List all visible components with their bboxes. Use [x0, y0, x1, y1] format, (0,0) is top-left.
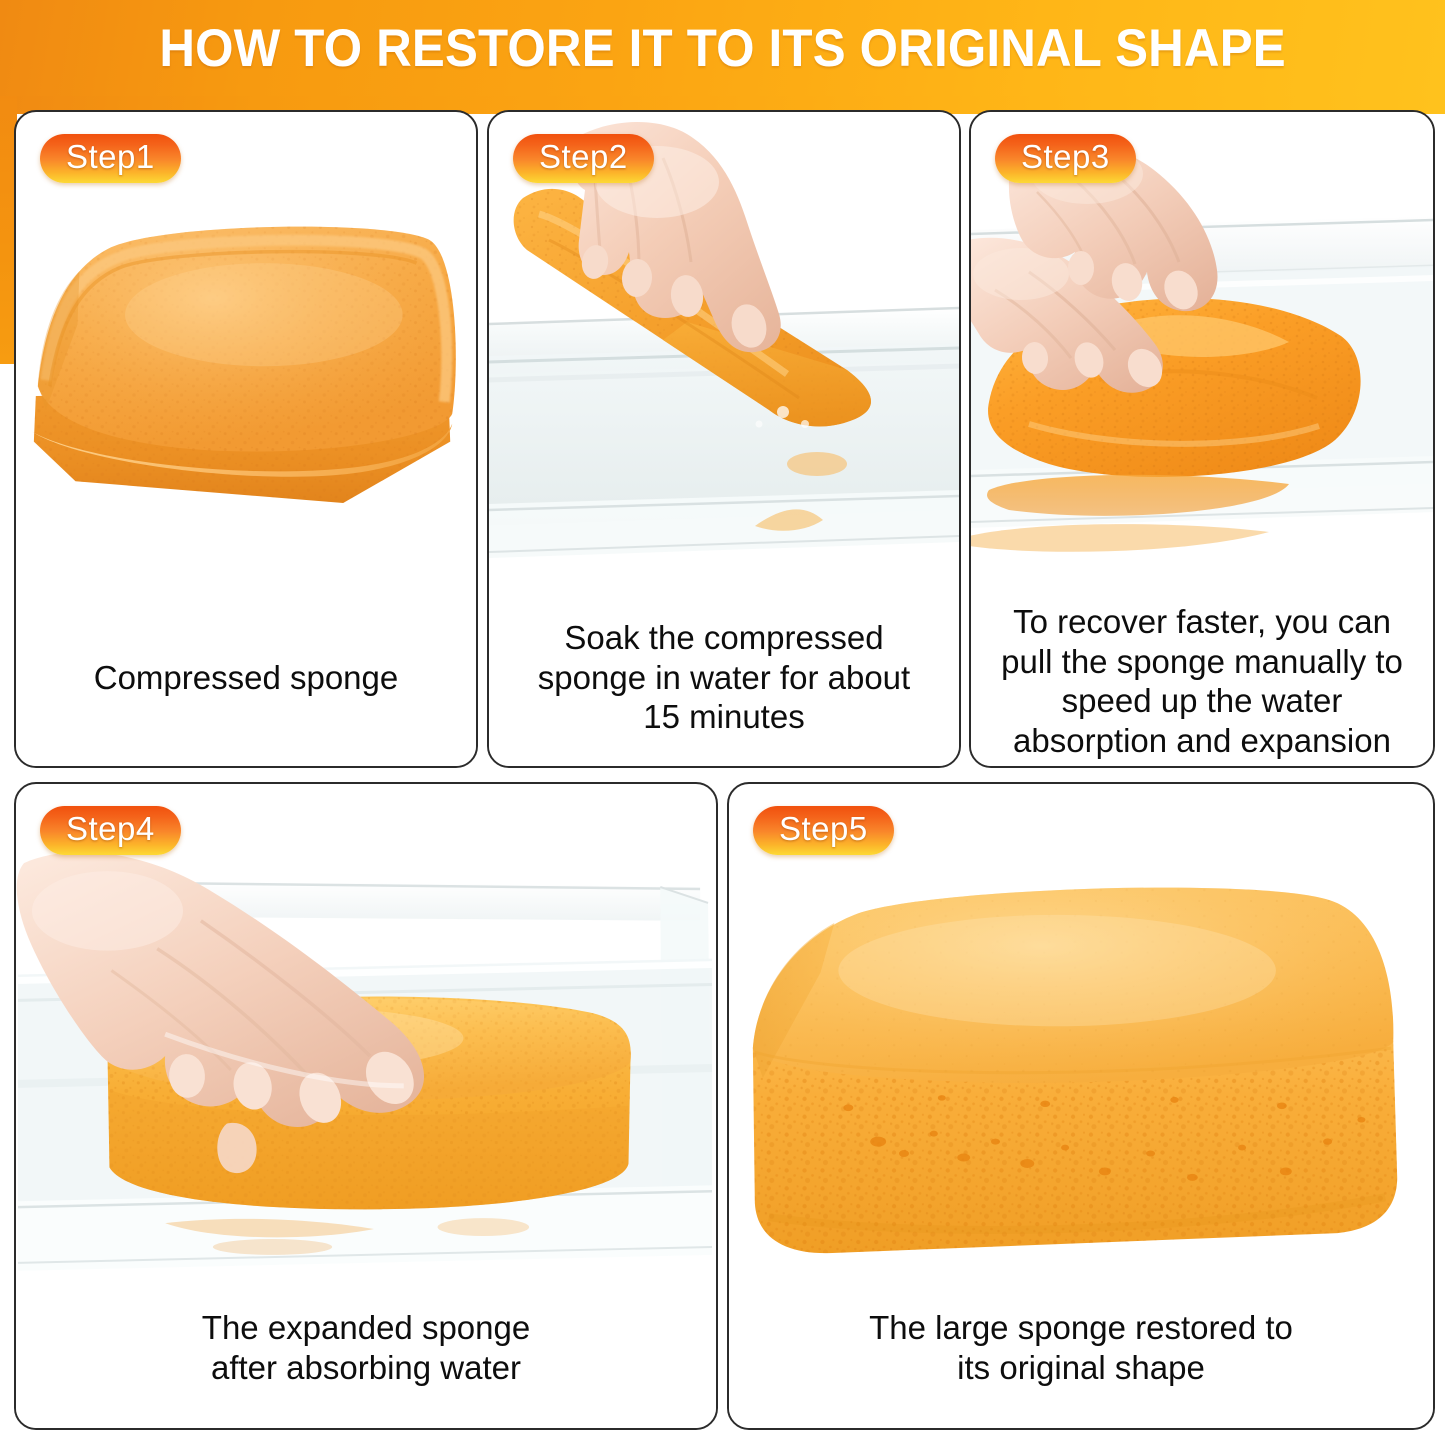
header-banner: HOW TO RESTORE IT TO ITS ORIGINAL SHAPE	[0, 0, 1445, 96]
step-4-caption-line-1: The expanded sponge	[34, 1308, 698, 1348]
step-3-caption-line-1: To recover faster, you can	[989, 602, 1415, 642]
step-1-caption-line-1: Compressed sponge	[34, 658, 458, 698]
step-1-caption: Compressed sponge	[16, 636, 476, 766]
step-3-badge: Step3	[995, 134, 1136, 183]
step-card-2[interactable]: Step2 Soak the compressed sponge in wate…	[487, 110, 961, 768]
step-3-caption-line-4: absorption and expansion	[989, 721, 1415, 761]
step-2-caption-line-1: Soak the compressed	[507, 618, 941, 658]
step-card-5[interactable]: Step5 The large sponge restored to its o…	[727, 782, 1435, 1430]
step-3-caption-line-3: speed up the water	[989, 681, 1415, 721]
steps-row-bottom: Step4 The expanded sponge after absorbin…	[0, 782, 1445, 1434]
step-2-illustration	[489, 112, 959, 612]
step-2-badge: Step2	[513, 134, 654, 183]
step-5-caption: The large sponge restored to its origina…	[729, 1298, 1433, 1428]
step-5-badge: Step5	[753, 806, 894, 855]
step-3-caption-line-2: pull the sponge manually to	[989, 642, 1415, 682]
step-card-3[interactable]: Step3 To recover faster, you can pull th…	[969, 110, 1435, 768]
step-card-1[interactable]: Step1 Compressed sponge	[14, 110, 478, 768]
step-2-caption: Soak the compressed sponge in water for …	[489, 596, 959, 766]
step-1-illustration	[16, 174, 476, 614]
step-3-illustration	[971, 112, 1433, 604]
step-1-badge: Step1	[40, 134, 181, 183]
step-4-caption: The expanded sponge after absorbing wate…	[16, 1298, 716, 1428]
step-5-illustration	[729, 842, 1433, 1302]
step-3-caption: To recover faster, you can pull the spon…	[971, 588, 1433, 766]
infographic-page: HOW TO RESTORE IT TO ITS ORIGINAL SHAPE	[0, 0, 1445, 1438]
step-4-illustration	[16, 824, 716, 1302]
step-5-caption-line-2: its original shape	[747, 1348, 1415, 1388]
step-4-caption-line-2: after absorbing water	[34, 1348, 698, 1388]
step-2-caption-line-2: sponge in water for about	[507, 658, 941, 698]
steps-row-top: Step1 Compressed sponge	[0, 110, 1445, 772]
step-4-badge: Step4	[40, 806, 181, 855]
step-card-4[interactable]: Step4 The expanded sponge after absorbin…	[14, 782, 718, 1430]
step-5-caption-line-1: The large sponge restored to	[747, 1308, 1415, 1348]
page-title: HOW TO RESTORE IT TO ITS ORIGINAL SHAPE	[159, 18, 1285, 79]
step-2-caption-line-3: 15 minutes	[507, 697, 941, 737]
